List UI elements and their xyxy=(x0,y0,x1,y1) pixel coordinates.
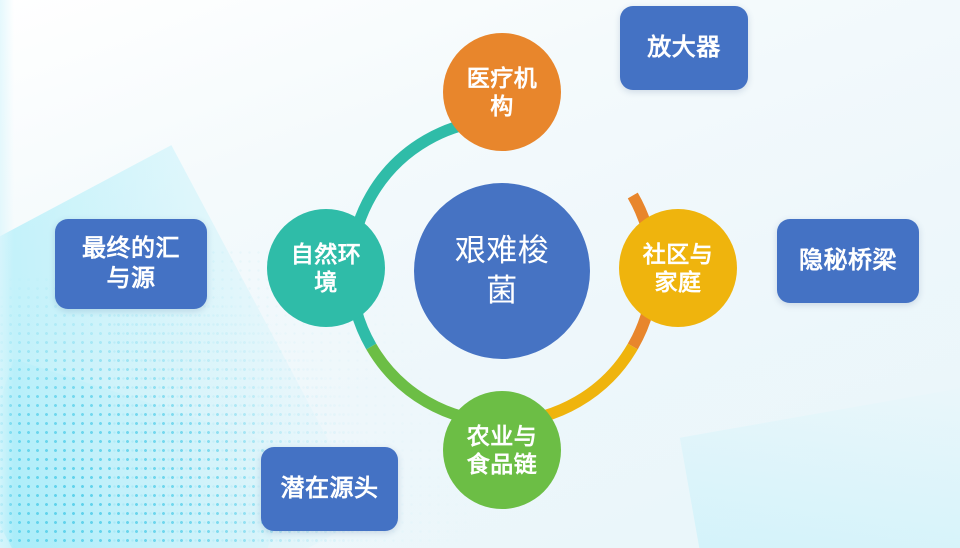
node-community[interactable]: 社区与 家庭 xyxy=(619,209,737,327)
node-agriculture[interactable]: 农业与 食品链 xyxy=(443,391,561,509)
node-healthcare-label: 医疗机构 xyxy=(460,64,544,120)
callout-amplifier[interactable]: 放大器 xyxy=(620,6,748,90)
node-agriculture-label: 农业与 食品链 xyxy=(467,422,538,478)
node-environment-label: 自然环境 xyxy=(284,240,368,296)
diagram-canvas: 艰难梭菌 医疗机构 社区与 家庭 农业与 食品链 自然环境 放大器 隐秘桥梁 潜… xyxy=(0,0,960,548)
callout-final-sink-and-source[interactable]: 最终的汇 与源 xyxy=(55,219,207,309)
node-community-label: 社区与 家庭 xyxy=(643,240,714,296)
node-environment[interactable]: 自然环境 xyxy=(267,209,385,327)
node-healthcare[interactable]: 医疗机构 xyxy=(443,33,561,151)
callout-potential-source[interactable]: 潜在源头 xyxy=(261,447,398,531)
center-node-cdifficile[interactable]: 艰难梭菌 xyxy=(414,183,590,359)
center-node-label: 艰难梭菌 xyxy=(449,231,555,310)
callout-bridge[interactable]: 隐秘桥梁 xyxy=(777,219,919,303)
